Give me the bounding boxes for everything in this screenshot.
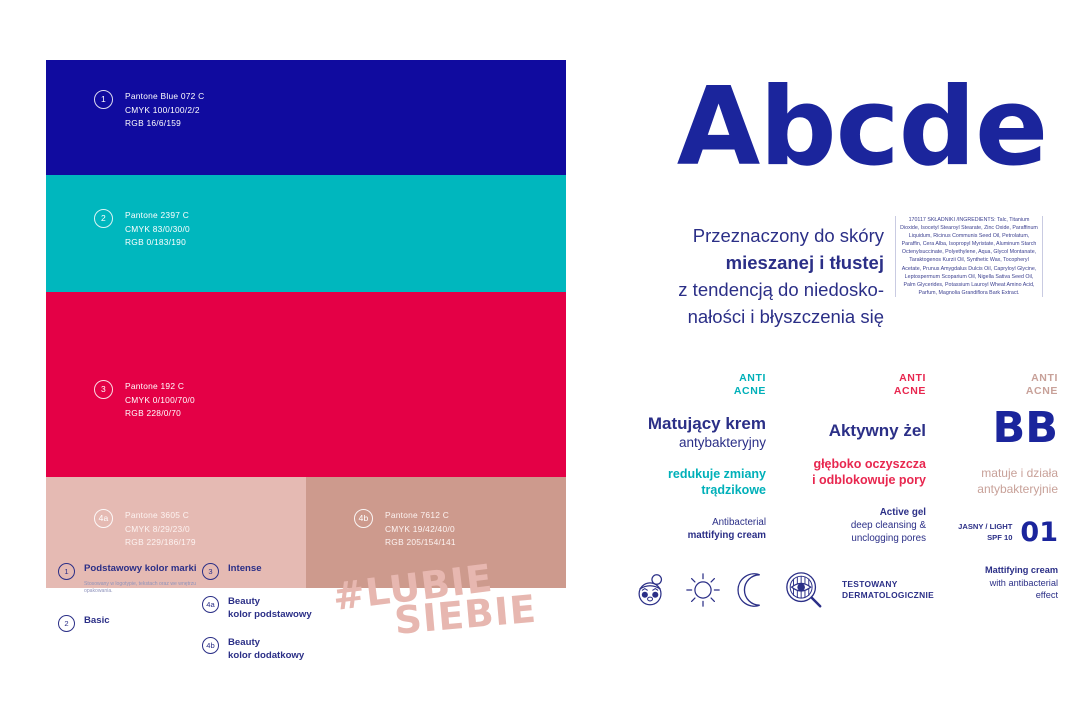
product-claim: Przeznaczony do skóry mieszanej i tłuste… [634,222,884,330]
product-tagline: redukuje zmiany trądzikowe [626,466,766,498]
anti-line-2: ACNE [780,385,926,398]
derm-line-1: TESTOWANY [842,579,934,591]
shade-number: 01 [1020,519,1058,546]
swatch-badge: 2 [94,209,113,228]
swatch-rgb: RGB 229/186/179 [125,536,196,550]
product-column-gel: ANTI ACNE Aktywny żel głęboko oczyszcza … [780,372,926,545]
en-line-3: unclogging pores [780,532,926,545]
legend-label: Intense [228,563,262,576]
swatch-cmyk: CMYK 19/42/40/0 [385,523,456,537]
en-line-2: with antibacterial [942,577,1058,590]
brand-guideline-page: 1 Pantone Blue 072 C CMYK 100/100/2/2 RG… [0,0,1080,720]
anti-line-1: ANTI [739,372,766,384]
product-title-sub: antybakteryjny [626,434,766,451]
color-swatch-3: 3 Pantone 192 C CMYK 0/100/70/0 RGB 228/… [46,292,566,477]
claim-line-3: z tendencją do niedosko- [634,276,884,303]
legend-badge: 1 [58,563,75,580]
anti-acne-label: ANTI ACNE [942,372,1058,397]
face-icon [632,571,670,609]
color-swatch-1: 1 Pantone Blue 072 C CMYK 100/100/2/2 RG… [46,60,566,175]
bb-wordmark: BB [942,407,1058,450]
legend-item-1: 1 Podstawowy kolor marki Stosowany w log… [58,563,208,595]
legend-badge: 4b [202,637,219,654]
hashtag-line-2: SIEBIE [393,589,567,638]
spf-line-1: JASNY / LIGHT [958,522,1012,533]
product-tagline: matuje i działa antybakteryjnie [942,465,1058,497]
anti-acne-label: ANTI ACNE [780,372,926,397]
tagline-line-1: matuje i działa [942,465,1058,481]
swatch-rgb: RGB 205/154/141 [385,536,456,550]
swatch-body: 1 Pantone Blue 072 C CMYK 100/100/2/2 RG… [94,90,204,131]
ingredients-list: 170117 SKŁADNIKI /INGREDIENTS: Talc, Tit… [895,216,1043,297]
swatch-cmyk: CMYK 8/29/23/0 [125,523,196,537]
swatch-badge: 4a [94,509,113,528]
swatch-cmyk: CMYK 0/100/70/0 [125,394,195,408]
type-specimen: Abcde [652,74,1072,182]
swatch-body: 4a Pantone 3605 C CMYK 8/29/23/0 RGB 229… [94,509,196,550]
product-english: Mattifying cream with antibacterial effe… [942,564,1058,602]
tagline-line-2: i odblokowuje pory [780,472,926,488]
legend-badge: 4a [202,596,219,613]
en-line-2: mattifying cream [626,529,766,542]
swatch-cmyk: CMYK 83/0/30/0 [125,223,190,237]
legend-label: Podstawowy kolor marki [84,563,208,576]
swatch-spec: Pantone 3605 C CMYK 8/29/23/0 RGB 229/18… [125,509,196,550]
magnifier-eye-icon [784,570,824,610]
shade-row: JASNY / LIGHT SPF 10 01 [942,519,1058,546]
product-english: Antibacterial mattifying cream [626,516,766,542]
packaging-layout: Abcde Przeznaczony do skóry mieszanej i … [612,0,1080,720]
product-title-main: Aktywny żel [829,421,926,440]
swatch-badge: 1 [94,90,113,109]
product-title-main: Matujący krem [648,414,766,433]
dermatologically-tested-label: TESTOWANY DERMATOLOGICZNIE [842,579,934,602]
en-line-1: Active gel [780,506,926,519]
swatch-spec: Pantone 192 C CMYK 0/100/70/0 RGB 228/0/… [125,380,195,421]
swatch-rgb: RGB 0/183/190 [125,236,190,250]
claim-line-2: mieszanej i tłustej [634,249,884,276]
swatch-pantone: Pantone 3605 C [125,509,196,523]
swatch-spec: Pantone Blue 072 C CMYK 100/100/2/2 RGB … [125,90,204,131]
claim-line-4: nałości i błyszczenia się [634,303,884,330]
spf-label: JASNY / LIGHT SPF 10 [958,522,1012,543]
swatch-badge: 3 [94,380,113,399]
derm-line-2: DERMATOLOGICZNIE [842,590,934,602]
legend-item-2: 2 Basic [58,615,208,632]
anti-acne-label: ANTI ACNE [626,372,766,397]
legend-label: Basic [84,615,110,628]
anti-line-2: ACNE [942,385,1058,398]
tagline-line-1: redukuje zmiany [626,466,766,482]
legend-label: Beauty kolor podstawowy [228,596,312,621]
product-title: Aktywny żel [780,421,926,441]
swatch-rgb: RGB 16/6/159 [125,117,204,131]
spf-line-2: SPF 10 [958,533,1012,544]
en-line-1: Antibacterial [626,516,766,529]
swatch-badge: 4b [354,509,373,528]
swatch-pantone: Pantone 2397 C [125,209,190,223]
swatch-pantone: Pantone 192 C [125,380,195,394]
legend-text-block: Podstawowy kolor marki Stosowany w logot… [84,563,208,595]
swatch-body: 2 Pantone 2397 C CMYK 83/0/30/0 RGB 0/18… [94,209,190,250]
swatch-pantone: Pantone 7612 C [385,509,456,523]
legend-badge: 3 [202,563,219,580]
legend-sublabel: Stosowany w logotypie, tekstach oraz we … [84,581,208,595]
tagline-line-2: antybakteryjnie [942,481,1058,497]
icon-row: TESTOWANY DERMATOLOGICZNIE [632,570,934,610]
swatch-pantone: Pantone Blue 072 C [125,90,204,104]
moon-icon [736,571,770,609]
en-line-1: Mattifying cream [942,564,1058,577]
legend-badge: 2 [58,615,75,632]
en-line-2: deep cleansing & [780,519,926,532]
swatch-rgb: RGB 228/0/70 [125,407,195,421]
swatch-spec: Pantone 2397 C CMYK 83/0/30/0 RGB 0/183/… [125,209,190,250]
legend-label: Beauty kolor dodatkowy [228,637,304,662]
tagline-line-1: głęboko oczyszcza [780,456,926,472]
anti-line-1: ANTI [899,372,926,384]
tagline-line-2: trądzikowe [626,482,766,498]
swatch-cmyk: CMYK 100/100/2/2 [125,104,204,118]
product-title: Matujący krem antybakteryjny [626,414,766,451]
sun-icon [684,571,722,609]
swatch-spec: Pantone 7612 C CMYK 19/42/40/0 RGB 205/1… [385,509,456,550]
swatch-body: 4b Pantone 7612 C CMYK 19/42/40/0 RGB 20… [354,509,456,550]
anti-line-1: ANTI [1031,372,1058,384]
product-tagline: głęboko oczyszcza i odblokowuje pory [780,456,926,488]
hashtag-graphic: #LUBIE SIEBIE [331,552,571,675]
anti-line-2: ACNE [626,385,766,398]
swatch-body: 3 Pantone 192 C CMYK 0/100/70/0 RGB 228/… [94,380,195,421]
product-column-bb: ANTI ACNE BB matuje i działa antybaktery… [942,372,1058,602]
legend-column-a: 1 Podstawowy kolor marki Stosowany w log… [58,563,208,645]
product-english: Active gel deep cleansing & unclogging p… [780,506,926,545]
product-column-cream: ANTI ACNE Matujący krem antybakteryjny r… [626,372,766,542]
color-swatch-2: 2 Pantone 2397 C CMYK 83/0/30/0 RGB 0/18… [46,175,566,292]
en-line-3: effect [942,589,1058,602]
color-palette: 1 Pantone Blue 072 C CMYK 100/100/2/2 RG… [46,60,566,528]
claim-line-1: Przeznaczony do skóry [634,222,884,249]
